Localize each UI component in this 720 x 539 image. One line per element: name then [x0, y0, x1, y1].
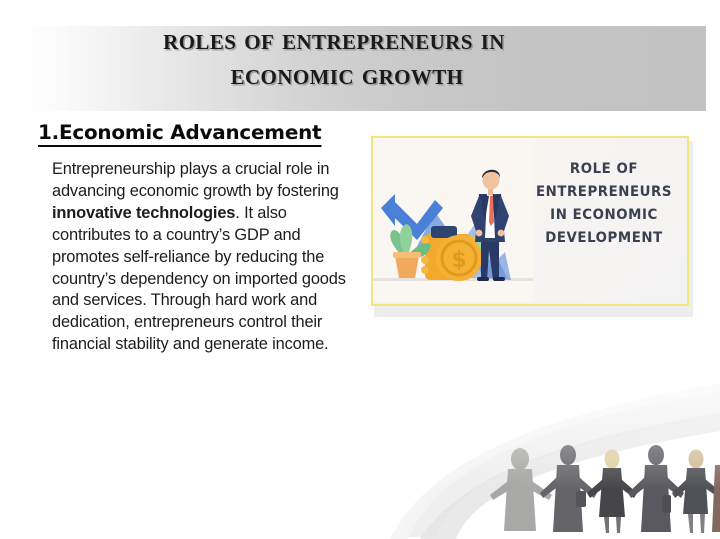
people-holding-hands-photo: [490, 445, 720, 533]
content-left-column: 1.Economic Advancement Entrepreneurship …: [0, 122, 366, 356]
swoosh-and-people-graphic: [390, 369, 720, 539]
caption-line-2: ENTREPRENEURS: [531, 181, 676, 204]
body-text-bold: innovative technologies: [52, 204, 235, 222]
page-title-line-1: Roles of Entrepreneurs in: [0, 22, 668, 57]
page-title-line-2: Economic Growth: [0, 57, 668, 92]
illustration-card: $: [371, 136, 693, 317]
card-inner: $: [373, 138, 684, 302]
swoosh-curve-1: [400, 391, 720, 537]
page-title: Roles of Entrepreneurs in Economic Growt…: [0, 22, 706, 92]
body-paragraph: Entrepreneurship plays a crucial role in…: [52, 159, 348, 356]
swoosh-curve-3: [390, 383, 720, 539]
caption-line-1: ROLE OF: [531, 158, 676, 181]
caption-line-4: DEVELOPMENT: [531, 227, 676, 250]
slide-canvas: Roles of Entrepreneurs in Economic Growt…: [0, 0, 720, 539]
body-text-part-1: Entrepreneurship plays a crucial role in…: [52, 160, 339, 200]
section-heading: 1.Economic Advancement: [38, 122, 321, 147]
economic-development-illustration: $: [373, 138, 533, 302]
card-yellow-frame: $: [371, 136, 689, 306]
body-text-part-2: . It also contributes to a country’s GDP…: [52, 204, 346, 353]
bottom-right-decoration: [390, 369, 720, 539]
swoosh-curve-2: [420, 413, 720, 539]
caption-line-3: IN ECONOMIC: [531, 204, 676, 227]
svg-text:$: $: [451, 248, 466, 273]
illustration-caption: ROLE OF ENTREPRENEURS IN ECONOMIC DEVELO…: [531, 158, 676, 250]
